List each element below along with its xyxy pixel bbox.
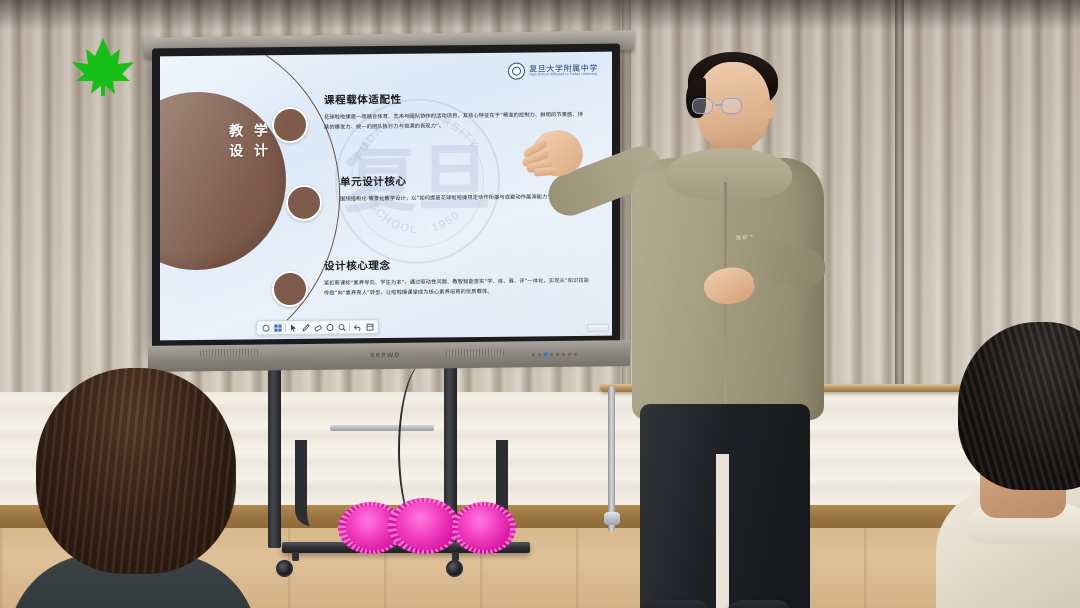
presenter-shoe-left: [644, 600, 708, 608]
cart-leg-curve-left: [295, 440, 311, 526]
select-icon[interactable]: [337, 322, 346, 331]
pom-pom: [396, 502, 454, 550]
eraser-icon[interactable]: [313, 323, 322, 332]
board-speaker-right: [446, 349, 504, 358]
toolbar-divider: [349, 323, 350, 331]
leg-gap: [716, 454, 729, 608]
curtain-seam: [895, 0, 904, 408]
apps-icon[interactable]: [273, 323, 282, 332]
pom-pom: [458, 506, 510, 550]
cart-post-left: [268, 352, 281, 548]
cart-caster-right: [446, 560, 463, 577]
curtain-top-shadow: [0, 0, 1080, 30]
audience-member-right: [928, 322, 1080, 608]
cart-caster-left: [276, 560, 293, 577]
eyeglasses-bridge: [715, 104, 723, 106]
toolbar-divider: [285, 324, 286, 332]
finger: [533, 167, 556, 177]
menu-icon[interactable]: [261, 323, 270, 332]
hub-label-line2: 设 计: [212, 141, 288, 162]
jacket-hood: [666, 148, 792, 200]
presenter-shoe-right: [726, 600, 790, 608]
presenter-ear: [762, 100, 775, 119]
pen-icon[interactable]: [301, 323, 310, 332]
node-bullet-3: [272, 271, 308, 307]
page-icon[interactable]: [365, 322, 374, 331]
shape-icon[interactable]: [325, 323, 334, 332]
board-brand-label: seewo: [370, 350, 400, 359]
eyeglasses-left-lens: [692, 98, 713, 114]
audience-member-left: [0, 368, 250, 608]
board-speaker-left: [200, 349, 258, 358]
presenter: 运动力: [540, 52, 880, 608]
node-bullet-1: [272, 107, 308, 143]
screenshot-root: FUDAN UNIVERSITY SCHOOL · 1950 复旦 复旦大学附属…: [0, 0, 1080, 608]
undo-icon[interactable]: [353, 322, 362, 331]
eyeglasses-right-lens: [721, 98, 742, 114]
annotation-toolbar[interactable]: [256, 319, 379, 335]
green-maple-leaf-logo: [68, 36, 138, 100]
cursor-icon[interactable]: [289, 323, 298, 332]
audience-left-hair: [36, 368, 236, 574]
node-bullet-2: [286, 185, 322, 221]
status-led: [532, 353, 535, 356]
audience-right-hair: [958, 322, 1080, 490]
caster-arm: [292, 552, 299, 561]
fudan-crest-icon: [508, 63, 525, 80]
